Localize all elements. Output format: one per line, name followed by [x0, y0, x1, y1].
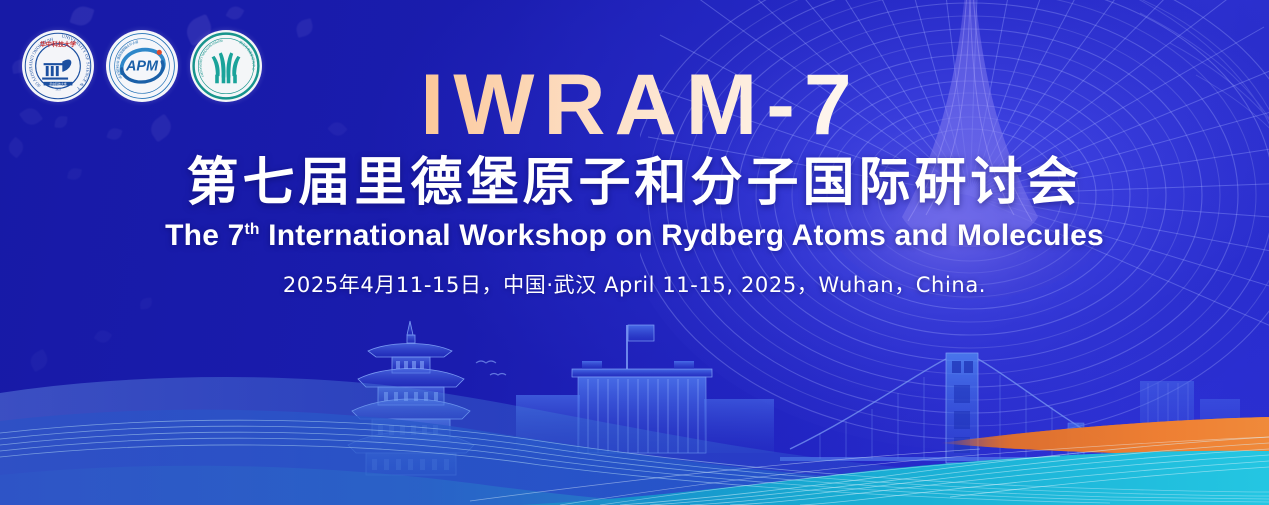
date-location-line: 2025年4月11-15日，中国·武汉 April 11-15, 2025，Wu… — [0, 269, 1269, 299]
petal-icon — [27, 349, 51, 372]
ordinal-suffix: th — [245, 221, 260, 238]
page-title: IWRAM-7 — [0, 62, 1269, 148]
petal-icon — [69, 3, 94, 28]
petal-icon — [294, 18, 315, 38]
svg-text:华中科技大学: 华中科技大学 — [40, 41, 76, 49]
english-subtitle-before: The 7 — [165, 219, 244, 252]
english-subtitle: The 7th International Workshop on Rydber… — [0, 219, 1269, 253]
banner-text-block: IWRAM-7 第七届里德堡原子和分子国际研讨会 The 7th Interna… — [0, 62, 1269, 299]
conference-banner: UNIVERSITY OF SCIENCE & T HUAZHONG UNIVE… — [0, 0, 1269, 505]
english-subtitle-after: International Workshop on Rydberg Atoms … — [260, 219, 1104, 252]
chinese-subtitle: 第七届里德堡原子和分子国际研讨会 — [0, 154, 1269, 212]
petal-icon — [94, 327, 113, 346]
petal-icon — [140, 297, 153, 309]
petal-icon — [225, 3, 244, 22]
